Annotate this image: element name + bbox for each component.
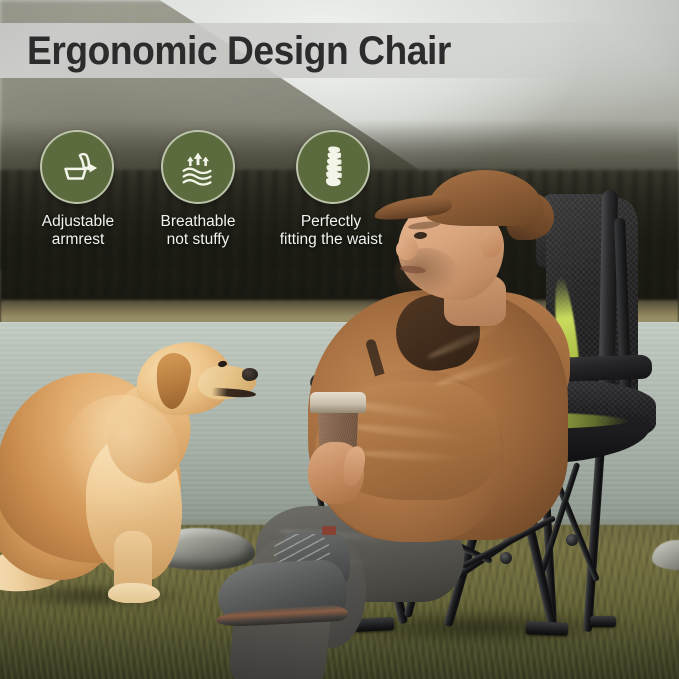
golden-retriever-dog (0, 335, 270, 605)
dog-fur-highlight (60, 395, 180, 525)
page-title: Ergonomic Design Chair (27, 31, 451, 71)
boot-brand-tag (322, 526, 336, 535)
feature-label: Breathable not stuffy (161, 213, 236, 249)
feature-waist-fit: Perfectly fitting the waist (258, 130, 408, 249)
dog-paw (108, 583, 160, 603)
breathable-airflow-icon (161, 130, 235, 204)
feature-highlights: Adjustable armrest Breathable (16, 130, 408, 249)
feature-breathable: Breathable not stuffy (138, 130, 258, 249)
feature-label: Perfectly fitting the waist (280, 213, 383, 249)
title-banner: Ergonomic Design Chair (0, 23, 679, 78)
armrest-adjust-icon (40, 130, 114, 204)
spine-lumbar-icon (296, 130, 370, 204)
chair-foot-pad (590, 616, 616, 627)
coffee-cup-lid-rim (310, 406, 366, 413)
feature-adjustable-armrest: Adjustable armrest (16, 130, 138, 249)
product-marketing-image: Ergonomic Design Chair Adjustable armres… (0, 0, 679, 679)
feature-label: Adjustable armrest (42, 213, 114, 249)
